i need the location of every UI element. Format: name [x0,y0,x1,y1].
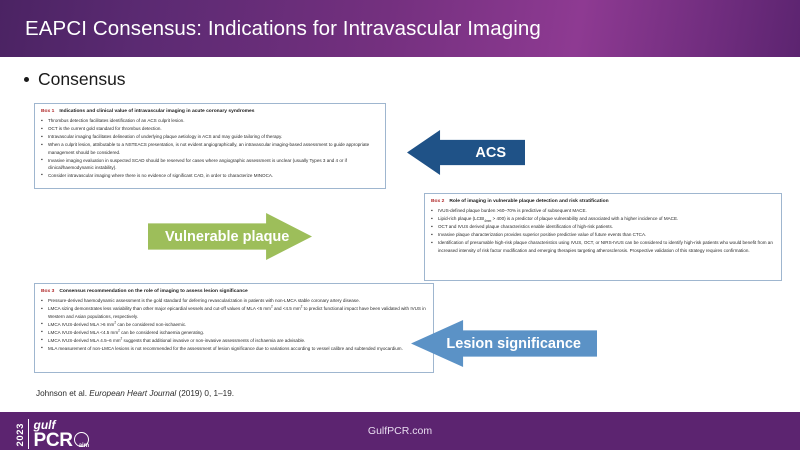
callout-arrow-vulnerable-plaque-label: Vulnerable plaque [165,229,289,245]
callout-arrow-lesion-significance: Lesion significance [411,320,597,367]
section-heading-label: Consensus [38,69,126,90]
box-1-number: Box 1 [41,109,54,114]
box-2-heading-text: Role of imaging in vulnerable plaque det… [449,199,608,204]
callout-arrow-vulnerable-plaque: Vulnerable plaque [148,213,312,260]
callout-arrow-lesion-significance-label: Lesion significance [446,336,581,352]
bullet-dot-icon [24,77,29,82]
box-1-heading-text: Indications and clinical value of intrav… [59,109,254,114]
section-heading: Consensus [24,69,126,90]
list-item: Invasive plaque characterization provide… [431,231,775,238]
page-title: EAPCI Consensus: Indications for Intrava… [25,17,541,41]
box-1-heading: Box 1Indications and clinical value of i… [41,109,379,114]
list-item: LMCA IVUS-derived MLA <4.5 mm2 can be co… [41,329,427,336]
box-1-list: Thrombus detection facilitates identific… [41,117,379,179]
box-3: Box 3Consensus recommendation on the rol… [34,283,434,373]
list-item: LMCA IVUS-derived MLA 4.5–6 mm2 suggests… [41,337,427,344]
box-3-heading-text: Consensus recommendation on the role of … [59,289,247,294]
list-item: Invasive imaging evaluation in suspected… [41,157,379,172]
list-item: LMCA sizing demonstrates less variabilit… [41,305,427,320]
list-item: When a culprit lesion, attributable to a… [41,141,379,156]
citation-details: (2019) 0, 1–19. [178,389,234,398]
list-item: MLA measurement of non-LMCA lesions is n… [41,345,427,352]
box-3-list: Pressure-derived haemodynamic assessment… [41,297,427,351]
list-item: Identification of presumable high-risk p… [431,239,775,254]
list-item: OCT and IVUS derived plaque characterist… [431,223,775,230]
box-2-heading: Box 2Role of imaging in vulnerable plaqu… [431,199,775,204]
list-item: LMCA IVUS-derived MLA >6 mm2 can be cons… [41,321,427,328]
callout-arrow-acs: ACS [407,130,525,175]
logo-aim-text: aim [79,443,89,449]
slide: EAPCI Consensus: Indications for Intrava… [0,0,800,450]
citation-journal: European Heart Journal [89,389,176,398]
list-item: OCT is the current gold standard for thr… [41,125,379,132]
citation: Johnson et al. European Heart Journal (2… [36,389,234,398]
footer-url: GulfPCR.com [0,425,800,437]
list-item: Lipid-rich plaque (LCBI4mm > 400) is a p… [431,215,775,222]
box-2: Box 2Role of imaging in vulnerable plaqu… [424,193,782,281]
slide-footer: 2023 gulf PCR aim GulfPCR.com [0,412,800,450]
slide-title-bar: EAPCI Consensus: Indications for Intrava… [0,0,800,57]
box-3-number: Box 3 [41,289,54,294]
box-2-number: Box 2 [431,199,444,204]
citation-authors: Johnson et al. [36,389,87,398]
list-item: Intravascular imaging facilitates deline… [41,133,379,140]
list-item: IVUS-defined plaque burden >60–70% is pr… [431,207,775,214]
box-3-heading: Box 3Consensus recommendation on the rol… [41,289,427,294]
callout-arrow-acs-label: ACS [475,145,506,161]
box-2-list: IVUS-defined plaque burden >60–70% is pr… [431,207,775,254]
box-1: Box 1Indications and clinical value of i… [34,103,386,189]
list-item: Thrombus detection facilitates identific… [41,117,379,124]
list-item: Consider intravascular imaging where the… [41,172,379,179]
list-item: Pressure-derived haemodynamic assessment… [41,297,427,304]
